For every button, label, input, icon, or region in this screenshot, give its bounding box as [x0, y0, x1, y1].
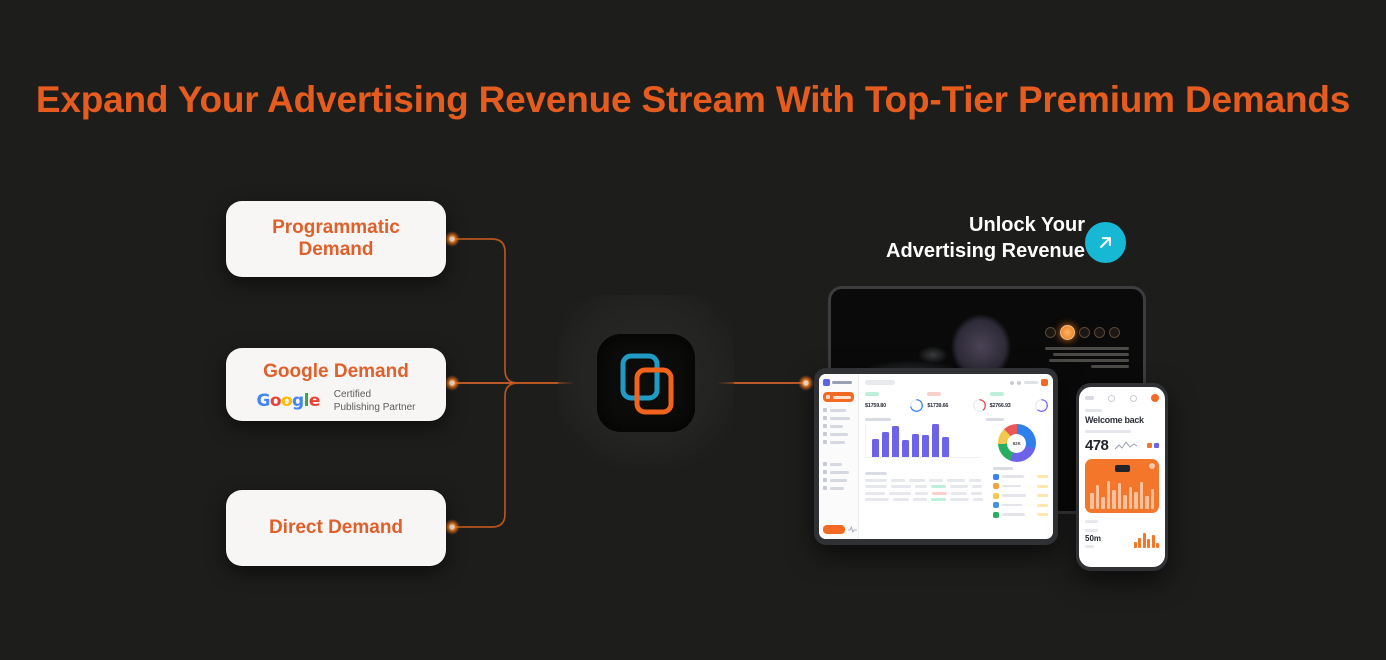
- kpi-value: $1759.80: [865, 403, 886, 409]
- sidebar-item[interactable]: [823, 440, 854, 444]
- pulse-icon: [848, 526, 857, 533]
- menu-icon[interactable]: [1085, 396, 1094, 400]
- card-bar: [1134, 492, 1138, 509]
- footer-bar: [1134, 542, 1137, 548]
- list-item[interactable]: [993, 493, 1048, 499]
- google-logo-icon: Google: [256, 391, 319, 411]
- data-table: [865, 472, 983, 518]
- brand-mark-icon: [823, 379, 830, 386]
- sidebar-item[interactable]: [823, 486, 854, 490]
- unlock-headline: Unlock Your Advertising Revenue: [845, 212, 1085, 265]
- google-letter: G: [256, 391, 269, 411]
- chart-icon: [823, 416, 827, 420]
- donut-chart: 62K: [998, 424, 1036, 462]
- dashboard-lower: [865, 467, 1048, 518]
- dashboard-sidebar[interactable]: [819, 374, 859, 539]
- kpi-value: $1739.66: [927, 403, 948, 409]
- sidebar-item-dashboard[interactable]: [823, 392, 854, 402]
- hud-icon-active: [1060, 325, 1075, 340]
- footer-bar: [1156, 543, 1159, 548]
- hud-text-lines: [1045, 347, 1129, 368]
- card-bar: [1107, 481, 1111, 510]
- bar-chart-bar: [942, 437, 949, 457]
- list-item[interactable]: [993, 483, 1048, 489]
- kpi-card: $2766.93: [990, 392, 1048, 412]
- arrow-up-right-icon[interactable]: [1085, 222, 1126, 263]
- card-programmatic-demand[interactable]: Programmatic Demand: [226, 201, 446, 277]
- footer-bar: [1143, 533, 1146, 548]
- hud-icon: [1094, 327, 1105, 338]
- card-bars: [1090, 479, 1154, 509]
- card-chip: [1115, 465, 1130, 472]
- avatar: [993, 502, 999, 508]
- sidebar-item[interactable]: [823, 470, 854, 474]
- table-row[interactable]: [865, 498, 983, 501]
- topbar-actions: [1010, 379, 1048, 386]
- google-letter: o: [281, 391, 292, 411]
- table-row[interactable]: [865, 492, 983, 495]
- kpi-ring-chart: [1035, 399, 1048, 412]
- bar-chart-bar: [932, 424, 939, 457]
- sparkline-icon: [1115, 440, 1141, 452]
- tag-icon: [823, 470, 827, 474]
- footer-bar: [1138, 538, 1141, 549]
- bell-icon: [823, 478, 827, 482]
- card-bar: [1090, 493, 1094, 510]
- unlock-line-1: Unlock Your: [845, 212, 1085, 238]
- card-bar: [1140, 482, 1144, 509]
- phone-subtitle: [1085, 430, 1131, 433]
- card-bar: [1151, 489, 1155, 509]
- hud-icon: [1109, 327, 1120, 338]
- wallet-icon: [823, 424, 827, 428]
- dashboard-topbar: [865, 379, 1048, 386]
- sidebar-item[interactable]: [823, 424, 854, 428]
- users-icon: [823, 432, 827, 436]
- gear-icon: [823, 486, 827, 490]
- upgrade-button[interactable]: [823, 525, 845, 534]
- sidebar-item[interactable]: [823, 416, 854, 420]
- hud-icon: [1079, 327, 1090, 338]
- google-letter: e: [309, 391, 320, 411]
- overlapping-squares-logo-icon: [597, 334, 695, 432]
- sidebar-item[interactable]: [823, 408, 854, 412]
- kpi-card: $1759.80: [865, 392, 923, 412]
- box-icon: [823, 440, 827, 444]
- google-partner-row: Google Certified Publishing Partner: [256, 388, 415, 414]
- dashboard-screen: $1759.80 $1739.66 $2: [819, 374, 1053, 539]
- card-google-demand[interactable]: Google Demand Google Certified Publishin…: [226, 348, 446, 421]
- kpi-card: $1739.66: [927, 392, 985, 412]
- dashboard-panels: 62K: [865, 418, 1048, 462]
- partner-line-2: Publishing Partner: [334, 401, 416, 414]
- search-input[interactable]: [865, 380, 895, 385]
- partner-line-1: Certified: [334, 388, 416, 401]
- card-bar: [1129, 487, 1133, 509]
- bar-chart-bar: [902, 440, 909, 457]
- table-row[interactable]: [865, 485, 983, 488]
- sidebar-item[interactable]: [823, 462, 854, 466]
- kpi-ring-chart: [910, 399, 923, 412]
- phone-greeting: Welcome back: [1085, 415, 1159, 425]
- phone-device: Welcome back 478: [1076, 383, 1168, 571]
- brand-logo-tile: [597, 334, 695, 432]
- avatar: [993, 483, 999, 489]
- table-header-row: [865, 479, 983, 482]
- phone-screen: Welcome back 478: [1079, 387, 1165, 567]
- list-item[interactable]: [993, 512, 1048, 518]
- bar-chart-bar: [872, 439, 879, 458]
- card-bar: [1118, 483, 1122, 509]
- phone-footer-bars: [1134, 533, 1160, 548]
- list-item[interactable]: [993, 502, 1048, 508]
- card-direct-demand[interactable]: Direct Demand: [226, 490, 446, 566]
- bar-chart-panel: [865, 418, 981, 462]
- bar-chart-bar: [882, 432, 889, 457]
- promo-banner: Expand Your Advertising Revenue Stream W…: [0, 0, 1386, 660]
- dashboard-icon: [826, 395, 830, 399]
- avatar[interactable]: [1041, 379, 1048, 386]
- phone-footer-value: 50m: [1085, 534, 1101, 543]
- avatar: [993, 474, 999, 480]
- card-bar: [1145, 496, 1149, 509]
- refresh-icon[interactable]: [1130, 395, 1137, 402]
- certified-partner-text: Certified Publishing Partner: [334, 388, 416, 414]
- dashboard-main: $1759.80 $1739.66 $2: [859, 374, 1053, 539]
- phone-footer: 50m: [1085, 529, 1159, 548]
- hud-icon: [1045, 327, 1056, 338]
- phone-metric-row: 478: [1085, 437, 1159, 454]
- hud-icon-row: [1045, 325, 1129, 340]
- avatar: [993, 512, 999, 518]
- kpi-value: $2766.93: [990, 403, 1011, 409]
- kpi-row: $1759.80 $1739.66 $2: [865, 392, 1048, 412]
- help-icon[interactable]: [1017, 381, 1021, 385]
- list-item[interactable]: [993, 474, 1048, 480]
- donut-center-label: 62K: [1007, 434, 1026, 453]
- tablet-dashboard-device: $1759.80 $1739.66 $2: [814, 368, 1058, 545]
- phone-metric-value: 478: [1085, 437, 1108, 454]
- arrow-glyph: [1095, 232, 1116, 253]
- card-bar: [1112, 490, 1116, 509]
- card-bar: [1123, 495, 1127, 509]
- sidebar-item[interactable]: [823, 478, 854, 482]
- avatar[interactable]: [1151, 394, 1159, 402]
- activity-list: [988, 467, 1048, 518]
- google-letter: o: [270, 391, 281, 411]
- sidebar-item[interactable]: [823, 432, 854, 436]
- phone-orange-card: [1085, 459, 1159, 513]
- google-letter: g: [292, 391, 304, 411]
- dashboard-brand: [823, 379, 854, 386]
- folder-icon: [823, 462, 827, 466]
- card-google-title: Google Demand: [263, 361, 409, 383]
- bar-chart-bar: [912, 434, 919, 457]
- bar-chart: [865, 424, 981, 458]
- unlock-line-2: Advertising Revenue: [845, 238, 1085, 264]
- phone-kicker: [1085, 409, 1102, 412]
- card-direct-title: Direct Demand: [269, 517, 403, 539]
- bell-icon[interactable]: [1010, 381, 1014, 385]
- home-icon[interactable]: [1108, 395, 1115, 402]
- kpi-ring-chart: [973, 399, 986, 412]
- card-programmatic-title: Programmatic Demand: [272, 217, 400, 262]
- footer-bar: [1152, 535, 1155, 548]
- list-icon: [823, 408, 827, 412]
- bar-chart-bar: [922, 435, 929, 457]
- card-corner-dot: [1149, 463, 1155, 469]
- card-bar: [1096, 485, 1100, 509]
- phone-topbar: [1085, 394, 1159, 402]
- card-bar: [1101, 497, 1105, 509]
- avatar: [993, 493, 999, 499]
- game-hud: [1045, 325, 1129, 371]
- donut-chart-panel: 62K: [986, 418, 1048, 462]
- phone-label: [1085, 520, 1098, 523]
- footer-bar: [1147, 539, 1150, 548]
- bar-chart-bar: [892, 426, 899, 457]
- sidebar-footer[interactable]: [823, 525, 857, 534]
